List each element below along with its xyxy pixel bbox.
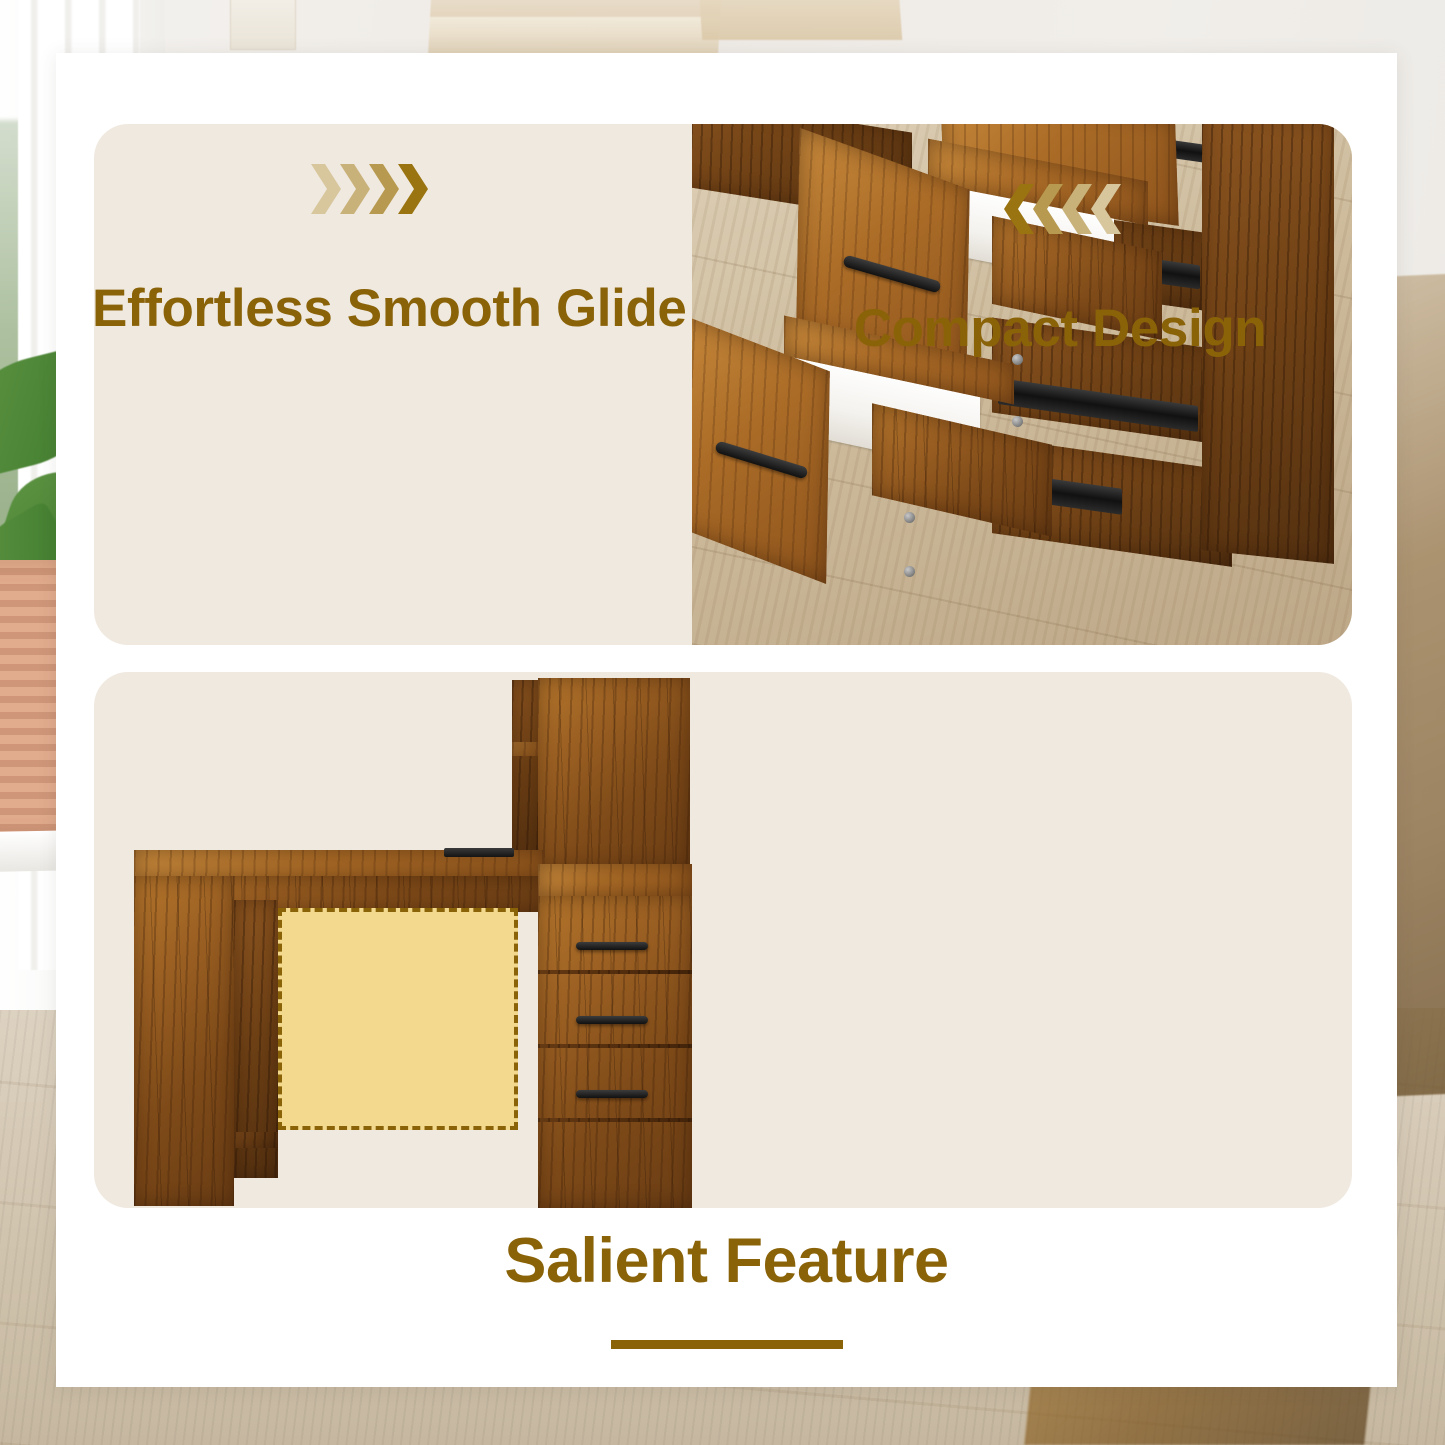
chevron-left-icon	[1089, 182, 1123, 236]
feature-heading: Compact Design	[800, 298, 1320, 359]
feature-text-compact-design: Compact Design	[800, 180, 1320, 359]
background-wood-furniture	[1392, 274, 1445, 1097]
desk-left-shelf	[234, 1132, 278, 1148]
desk-drawer-divider	[538, 970, 692, 974]
feature-text-effortless-smooth-glide: Effortless Smooth Glide	[92, 160, 642, 339]
slide-screw	[1012, 416, 1023, 427]
desk-illustration	[124, 680, 744, 1208]
feature-card-compact-design	[94, 672, 1352, 1208]
desk-hutch-panel	[538, 678, 690, 870]
desk-top-surface-right	[538, 864, 692, 896]
divider-rule	[611, 1340, 843, 1349]
desk-drawer-divider	[538, 1044, 692, 1048]
screenshot-stage: Effortless Smooth Glide	[0, 0, 1445, 1445]
desk-hutch-divider	[512, 680, 538, 870]
feature-heading: Effortless Smooth Glide	[92, 278, 642, 339]
background-picture-frame	[230, 0, 296, 50]
desk-drawer-handle[interactable]	[576, 1090, 648, 1098]
slide-screw	[904, 566, 915, 577]
page-title: Salient Feature	[56, 1228, 1397, 1294]
desk-cable-port-bar	[444, 848, 514, 857]
desk-drawer-divider	[538, 1118, 692, 1122]
chevrons-left-icon	[800, 180, 1320, 238]
desk-left-outer-panel	[134, 876, 234, 1206]
footer-title-block: Salient Feature	[56, 1228, 1397, 1349]
chevron-right-icon	[396, 162, 430, 216]
chevrons-right-icon	[92, 160, 642, 218]
slide-screw	[904, 512, 915, 523]
desk-drawer-handle[interactable]	[576, 942, 648, 950]
background-stacked-books-secondary	[698, 0, 903, 40]
legroom-highlight-area	[278, 908, 518, 1130]
desk-drawer-handle[interactable]	[576, 1016, 648, 1024]
background-stacked-books	[428, 0, 722, 55]
